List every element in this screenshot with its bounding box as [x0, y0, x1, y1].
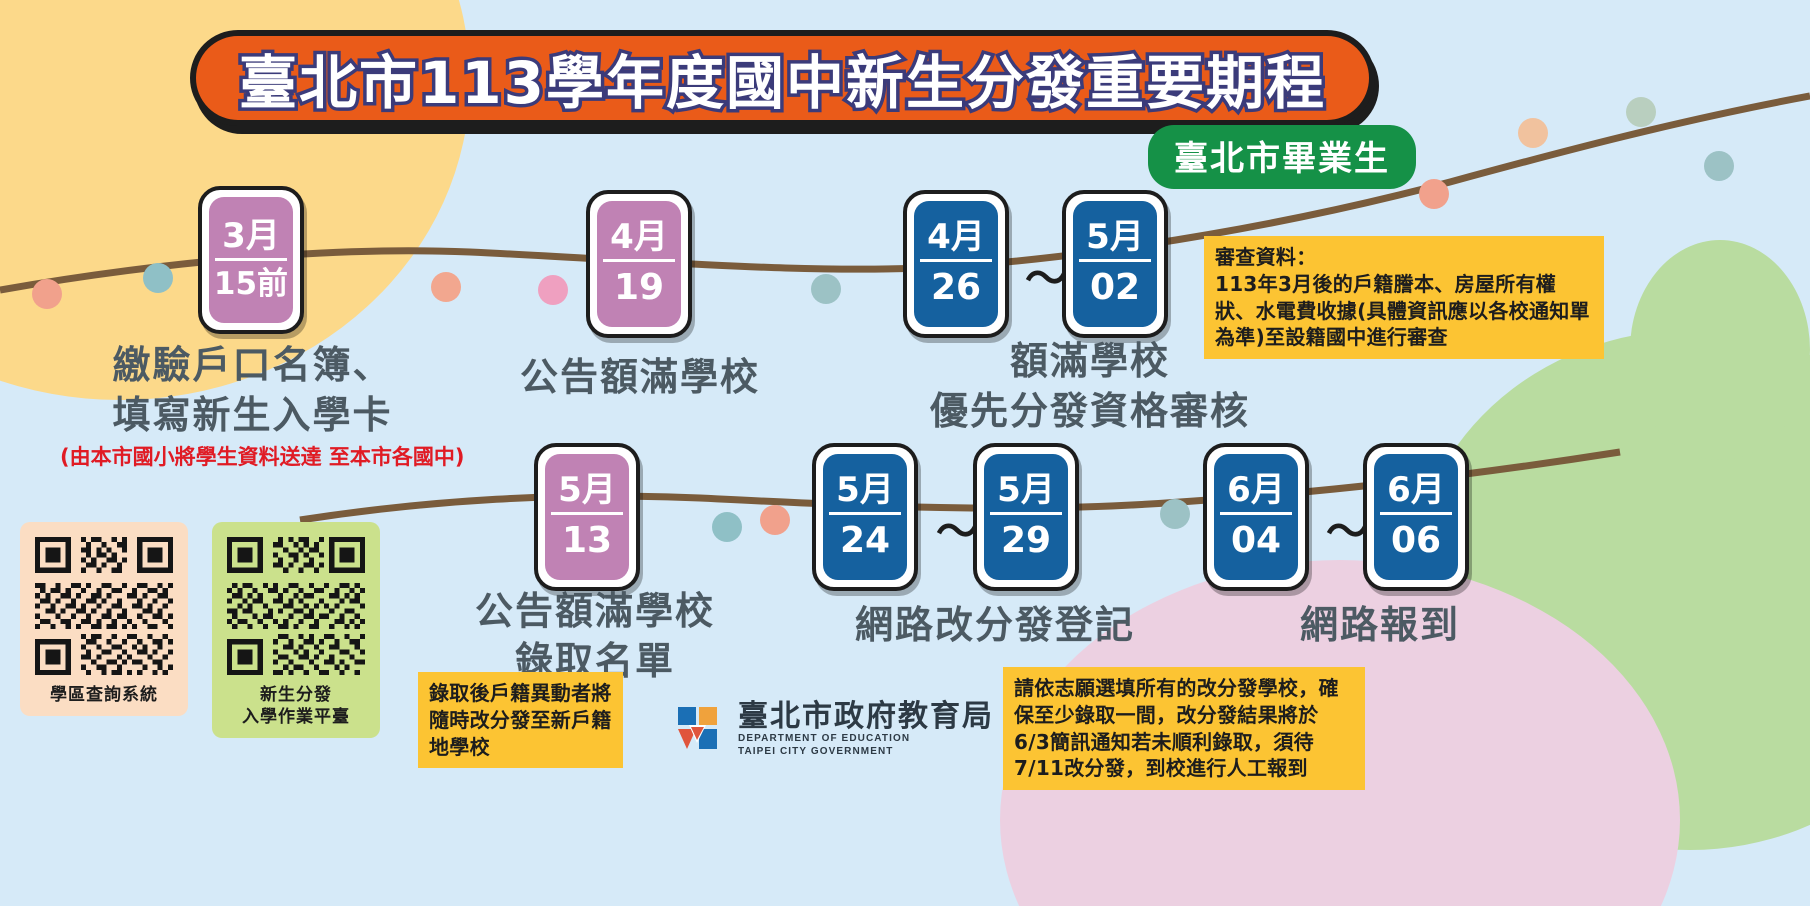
step-caption-6: 網路報到	[1180, 600, 1580, 650]
step-caption-2: 公告額滿學校	[450, 352, 830, 402]
date-card-step5-start: 5月 24	[812, 443, 918, 591]
date-card-month: 5月	[1079, 220, 1151, 262]
date-card-day: 29	[1001, 517, 1051, 561]
date-card-day: 02	[1090, 264, 1140, 308]
note-wish-selection: 請依志願選填所有的改分發學校，確保至少錄取一間，改分發結果將於6/3簡訊通知若未…	[1003, 667, 1365, 790]
date-card-day: 06	[1391, 517, 1441, 561]
date-range-separator-3: ～	[1025, 245, 1067, 306]
step-caption-3-line1: 額滿學校	[1010, 339, 1170, 383]
date-card-month: 5月	[990, 473, 1062, 515]
department-logo: 臺北市政府教育局 DEPARTMENT OF EDUCATION TAIPEI …	[672, 700, 994, 758]
date-range-separator-6: ～	[1326, 498, 1368, 559]
date-card-day: 26	[931, 264, 981, 308]
date-card-month: 4月	[603, 220, 675, 262]
date-card-step6-end: 6月 06	[1363, 443, 1469, 591]
step-caption-4-line1: 公告額滿學校	[475, 589, 715, 633]
page-title: 臺北市113學年度國中新生分發重要期程	[239, 36, 1326, 120]
department-name-en-line1: DEPARTMENT OF EDUCATION	[738, 733, 994, 746]
department-name-en-line2: TAIPEI CITY GOVERNMENT	[738, 746, 994, 759]
step-caption-3-line2: 優先分發資格審核	[930, 389, 1250, 433]
graduate-scope-badge: 臺北市畢業生	[1148, 125, 1416, 189]
date-card-day: 24	[840, 517, 890, 561]
step-caption-5: 網路改分發登記	[795, 600, 1195, 650]
date-card-step6-start: 6月 04	[1203, 443, 1309, 591]
date-card-day: 04	[1231, 517, 1281, 561]
date-card-day: 15前	[214, 263, 288, 301]
step-caption-1: 繳驗戶口名簿、 填寫新生入學卡 (由本市國小將學生資料送達 至本市各國中)	[60, 340, 445, 472]
qr-label-enrollment-platform: 新生分發 入學作業平臺	[238, 684, 354, 738]
date-range-separator-5: ～	[936, 498, 978, 559]
date-card-month: 4月	[920, 220, 992, 262]
note-household-moved: 錄取後戶籍異動者將隨時改分發至新戶籍地學校	[418, 672, 623, 768]
taipei-city-government-logo-icon	[672, 703, 728, 755]
qr-label-school-zone: 學區查詢系統	[46, 684, 162, 716]
date-card-step4: 5月 13	[534, 443, 640, 591]
department-name-zh: 臺北市政府教育局	[738, 700, 994, 733]
date-card-step3-start: 4月 26	[903, 190, 1009, 338]
title-banner: 臺北市113學年度國中新生分發重要期程	[190, 30, 1375, 126]
qr-code-school-zone-icon	[30, 532, 178, 680]
date-card-month: 5月	[551, 473, 623, 515]
date-card-day: 19	[614, 264, 664, 308]
date-card-step1: 3月 15前	[198, 186, 304, 334]
qr-card-enrollment-platform[interactable]: 新生分發 入學作業平臺	[212, 522, 380, 738]
date-card-day: 13	[562, 517, 612, 561]
qr-code-enrollment-platform-icon	[222, 532, 370, 680]
qr-card-school-zone-lookup[interactable]: 學區查詢系統	[20, 522, 188, 716]
step-caption-1-line1: 繳驗戶口名簿、	[112, 343, 392, 387]
date-card-step5-end: 5月 29	[973, 443, 1079, 591]
step-caption-1-line2: 填寫新生入學卡	[112, 393, 392, 437]
background-blob-green-small	[1630, 240, 1810, 460]
date-card-month: 5月	[829, 473, 901, 515]
date-card-step2: 4月 19	[586, 190, 692, 338]
note-review-documents: 審查資料： 113年3月後的戶籍謄本、房屋所有權狀、水電費收據(具體資訊應以各校…	[1204, 236, 1604, 359]
date-card-month: 6月	[1380, 473, 1452, 515]
infographic-poster: 臺北市113學年度國中新生分發重要期程 臺北市畢業生 3月 15前 繳驗戶口名簿…	[0, 0, 1810, 906]
date-card-month: 6月	[1220, 473, 1292, 515]
date-card-step3-end: 5月 02	[1062, 190, 1168, 338]
date-card-month: 3月	[215, 219, 287, 261]
step-caption-1-subnote: (由本市國小將學生資料送達 至本市各國中)	[60, 444, 445, 472]
